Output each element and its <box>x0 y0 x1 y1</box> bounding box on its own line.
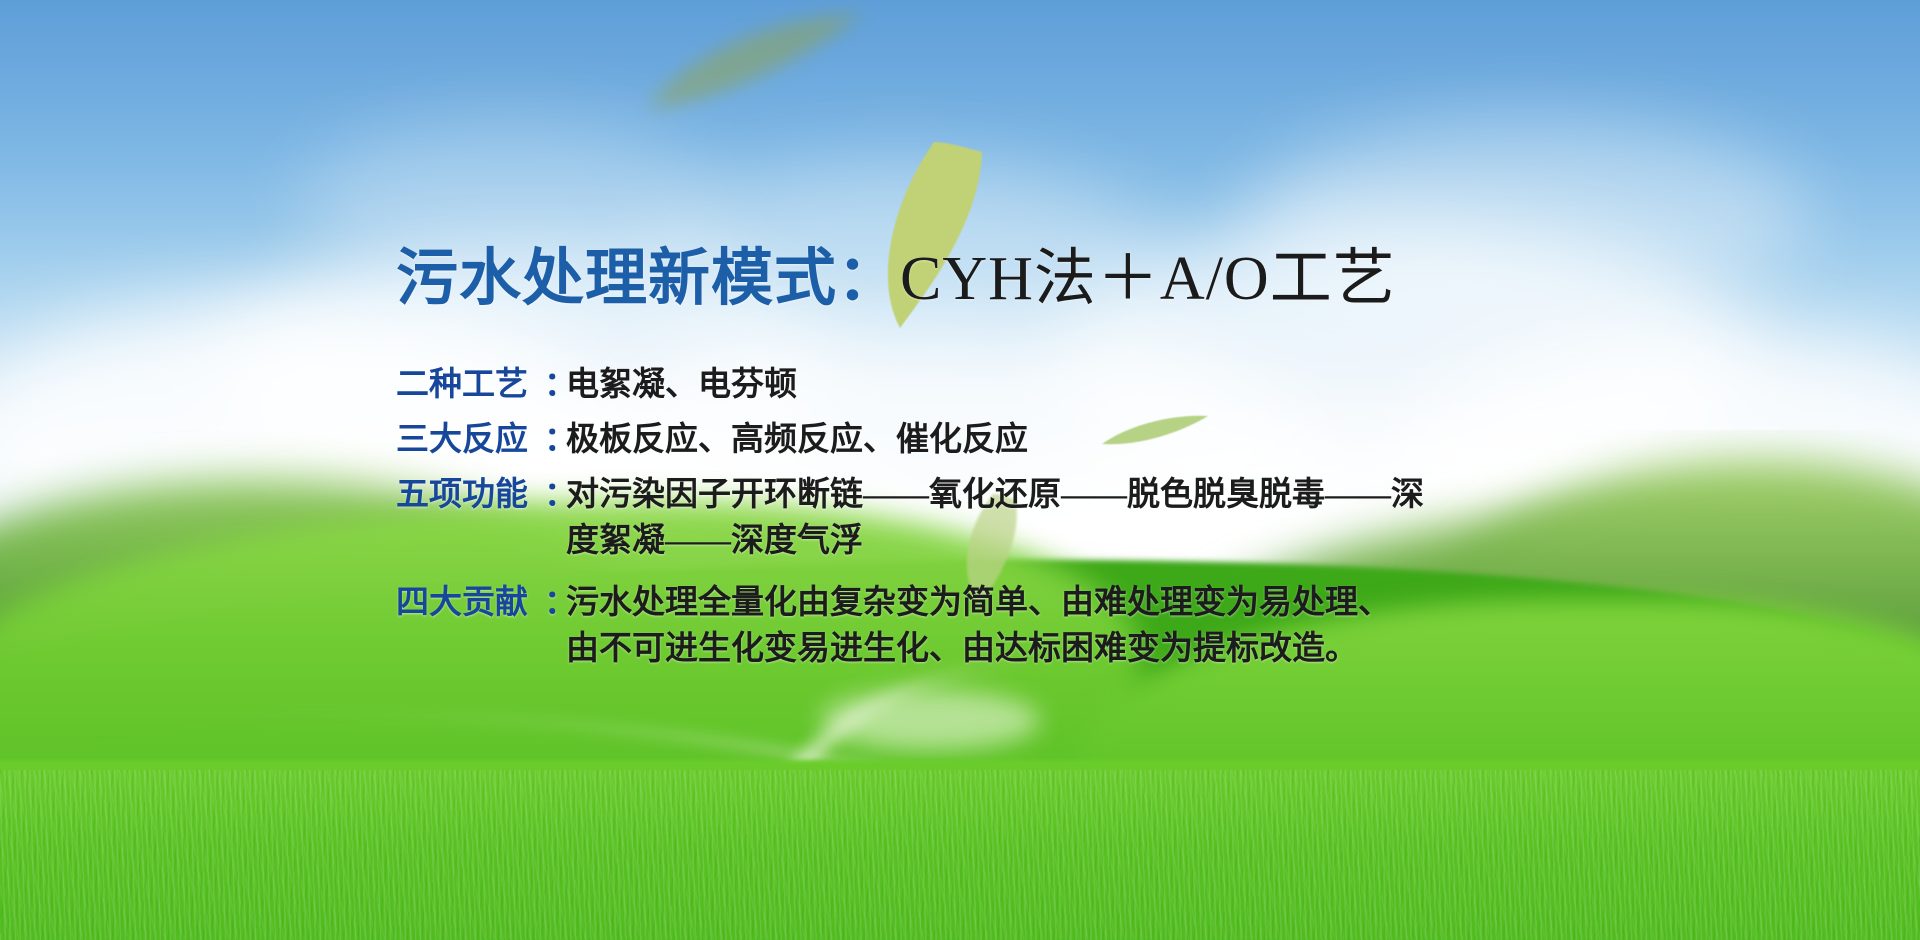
bullet-colon: ： <box>544 417 566 463</box>
bullet-row: 五项功能 ： 对污染因子开环断链——氧化还原——脱色脱臭脱毒——深 度絮凝——深… <box>396 472 1496 564</box>
page-title: 污水处理新模式：CYH法＋A/O工艺 <box>396 248 1396 310</box>
bullet-text-line: 污水处理全量化由复杂变为简单、由难处理变为易处理、 <box>566 585 1391 621</box>
bullet-label: 四大贡献 <box>396 580 544 626</box>
bullet-list: 二种工艺 ： 电絮凝、电芬顿 三大反应 ： 极板反应、高频反应、催化反应 五项功… <box>396 362 1496 681</box>
bullet-label: 三大反应 <box>396 417 544 463</box>
bullet-text-line: 对污染因子开环断链——氧化还原——脱色脱臭脱毒——深 <box>566 477 1424 513</box>
page-title-secondary: CYH法＋A/O工艺 <box>900 245 1396 313</box>
slide-content: 污水处理新模式：CYH法＋A/O工艺 二种工艺 ： 电絮凝、电芬顿 三大反应 ：… <box>0 0 1920 940</box>
bullet-text: 污水处理全量化由复杂变为简单、由难处理变为易处理、 由不可进生化变易进生化、由达… <box>566 580 1496 672</box>
bullet-label: 五项功能 <box>396 472 544 518</box>
bullet-colon: ： <box>544 362 566 408</box>
bullet-text-line: 极板反应、高频反应、催化反应 <box>566 422 1028 458</box>
bullet-colon: ： <box>544 472 566 518</box>
bullet-row: 二种工艺 ： 电絮凝、电芬顿 <box>396 362 1496 408</box>
bullet-text-line: 度絮凝——深度气浮 <box>566 518 1496 564</box>
bullet-text-line: 由不可进生化变易进生化、由达标困难变为提标改造。 <box>566 626 1496 672</box>
bullet-colon: ： <box>544 580 566 626</box>
bullet-row: 四大贡献 ： 污水处理全量化由复杂变为简单、由难处理变为易处理、 由不可进生化变… <box>396 580 1496 672</box>
bullet-text-line: 电絮凝、电芬顿 <box>566 367 797 403</box>
bullet-text: 对污染因子开环断链——氧化还原——脱色脱臭脱毒——深 度絮凝——深度气浮 <box>566 472 1496 564</box>
bullet-label: 二种工艺 <box>396 362 544 408</box>
bullet-row: 三大反应 ： 极板反应、高频反应、催化反应 <box>396 417 1496 463</box>
slide-canvas: 污水处理新模式：CYH法＋A/O工艺 二种工艺 ： 电絮凝、电芬顿 三大反应 ：… <box>0 0 1920 940</box>
page-title-primary: 污水处理新模式： <box>396 245 900 313</box>
bullet-text: 电絮凝、电芬顿 <box>566 362 1496 408</box>
bullet-text: 极板反应、高频反应、催化反应 <box>566 417 1496 463</box>
